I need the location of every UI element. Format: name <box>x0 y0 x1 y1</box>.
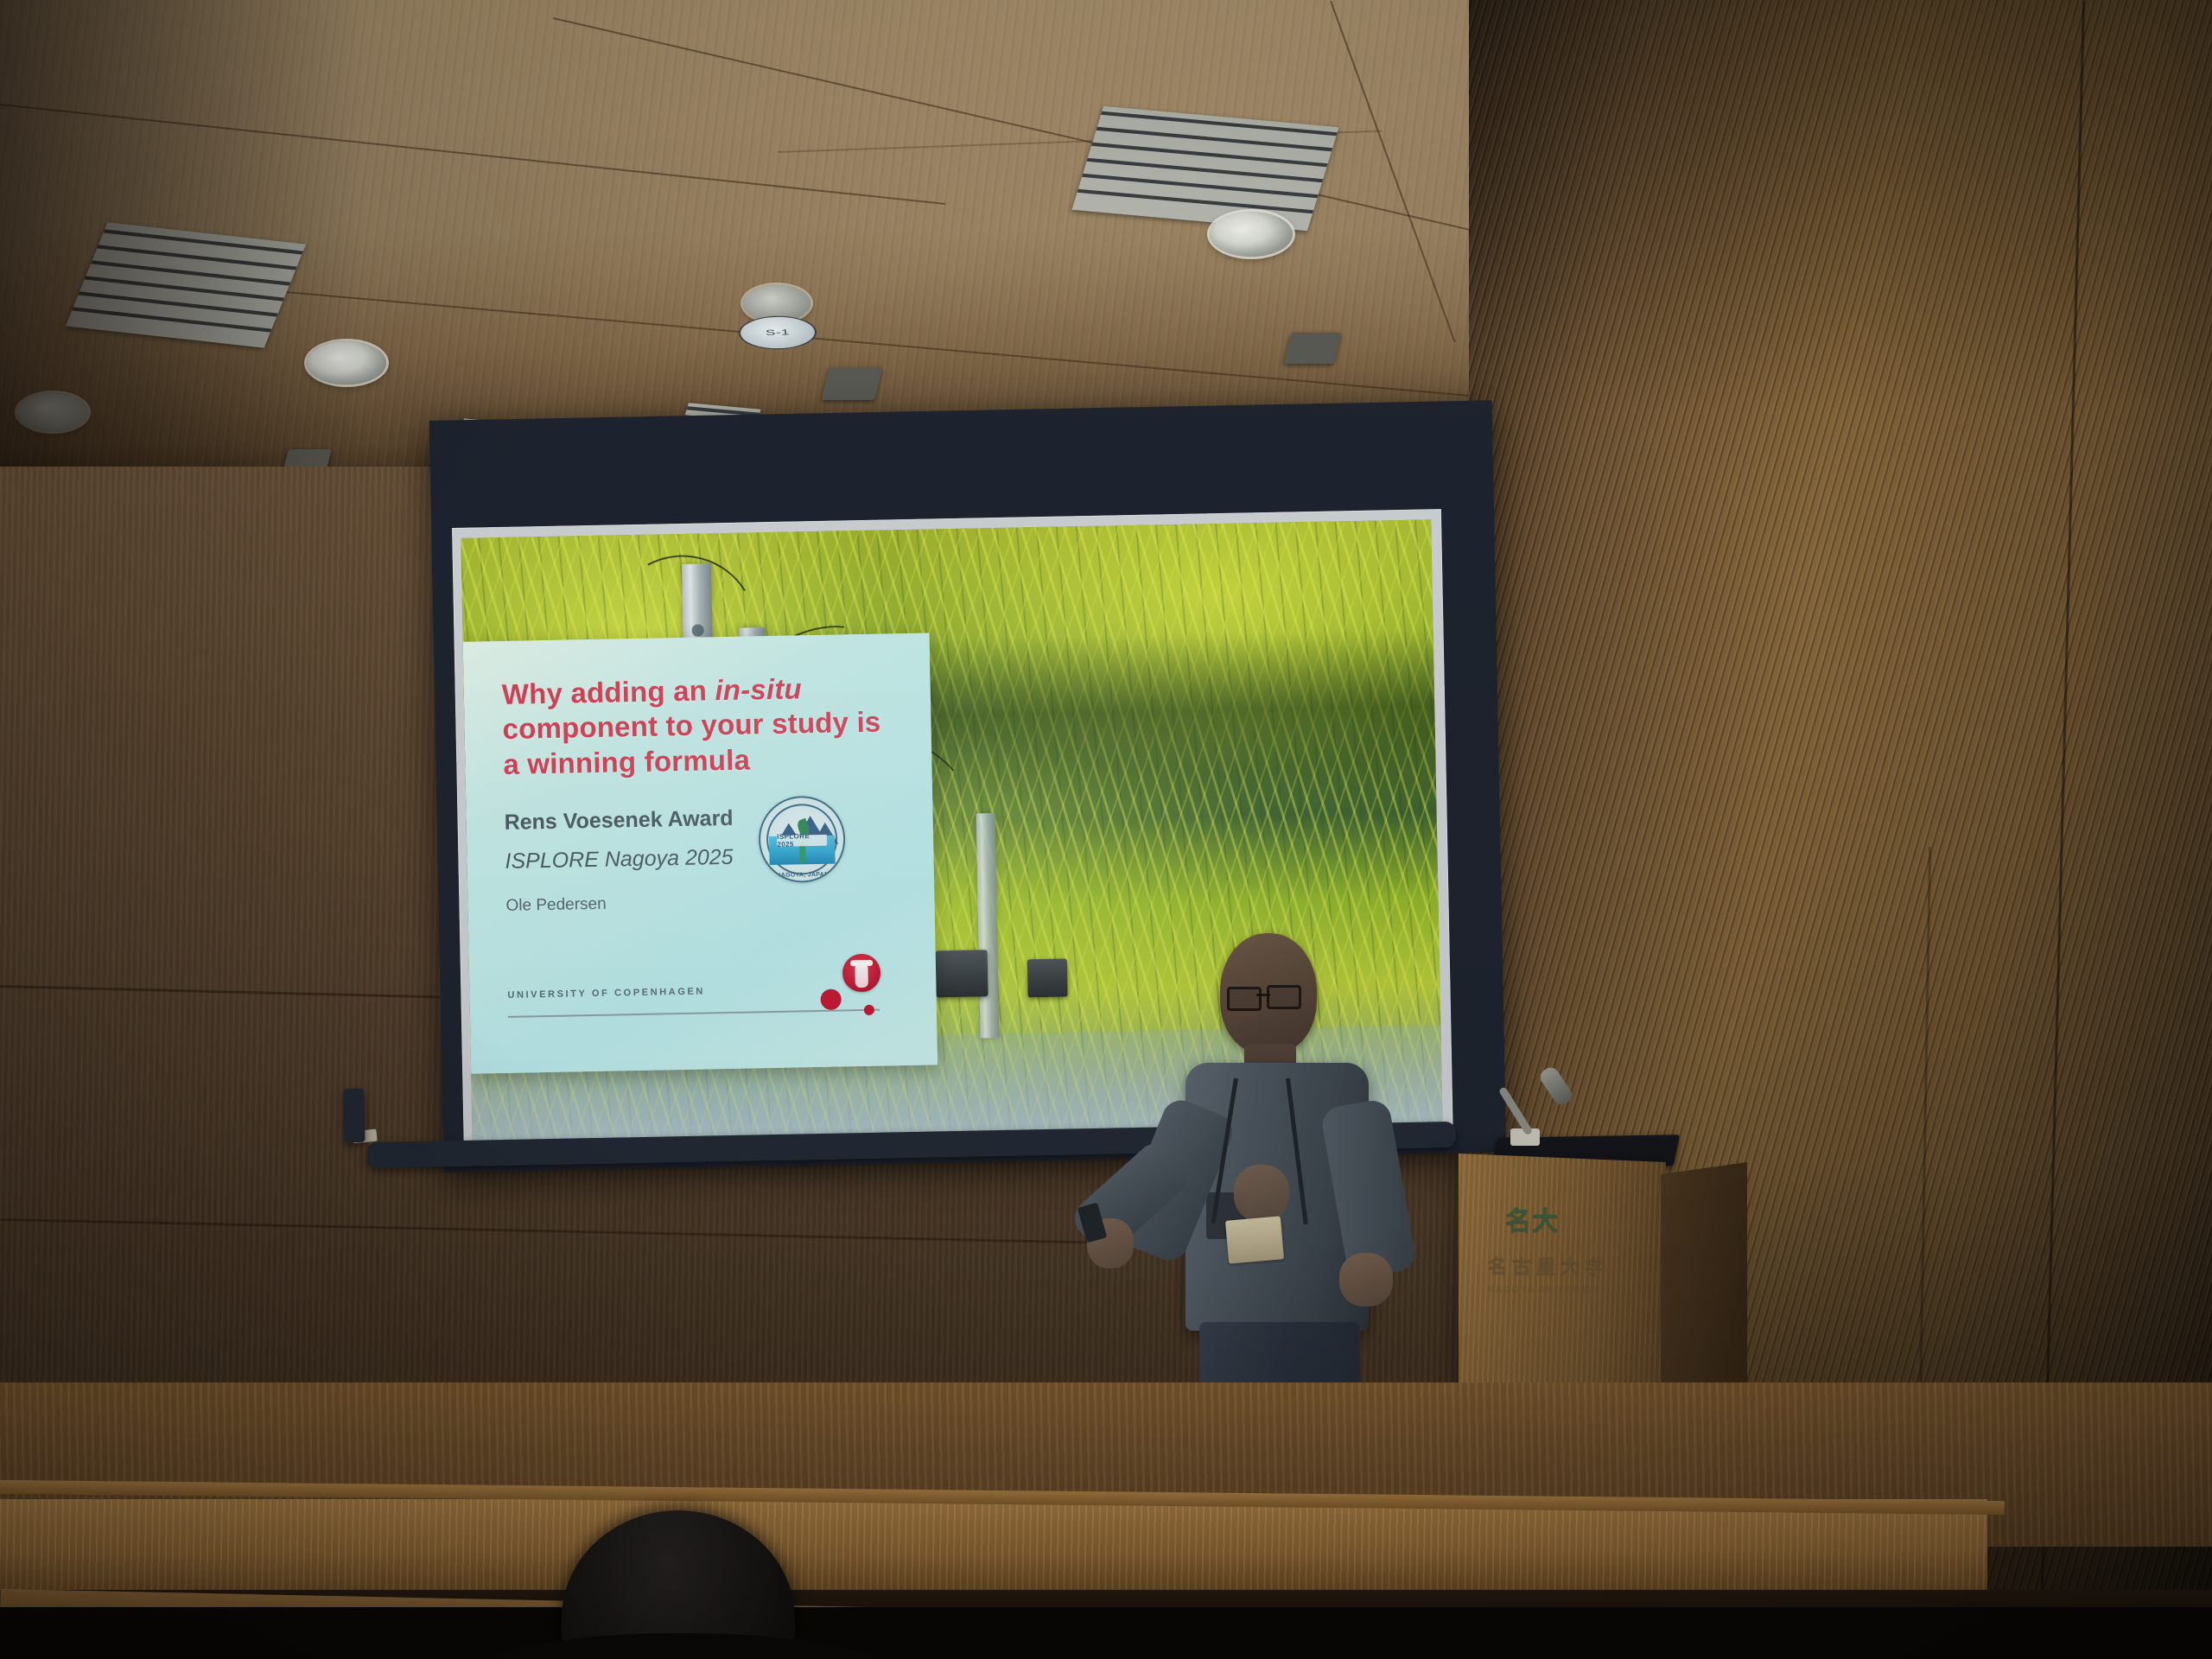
nagoya-university-english: NAGOYA UNIVERSITY <box>1488 1285 1607 1294</box>
university-name: UNIVERSITY OF COPENHAGEN <box>507 987 705 1001</box>
isplore-logo: ISPLORE 2025 NAGOYA, JAPAN <box>758 795 846 883</box>
field-sensor-box <box>936 950 988 997</box>
presenter-glasses-bridge <box>1256 994 1270 996</box>
nagoya-university-logo-mark: 名大 <box>1505 1199 1559 1237</box>
footer-accent-dot <box>864 1005 874 1015</box>
slide-title-line1-italic: in-situ <box>715 672 802 706</box>
slide-author-name: Ole Pedersen <box>505 895 607 916</box>
presenter-hand-gesturing <box>1234 1165 1289 1222</box>
ceiling-speaker <box>821 367 882 400</box>
ceiling-downlight <box>1210 212 1293 257</box>
ceiling-vent-center <box>1071 106 1338 231</box>
nagoya-university-kanji: 名古屋大学 <box>1488 1251 1609 1279</box>
ucph-seal-emblem <box>855 965 868 988</box>
foreground-shadow <box>0 1607 2212 1659</box>
slide-event-name: ISPLORE Nagoya 2025 <box>505 845 734 874</box>
isplore-location-text: NAGOYA, JAPAN <box>761 872 844 880</box>
presenter-glasses-lens-right <box>1267 985 1301 1009</box>
presenter-name-badge <box>1225 1216 1284 1263</box>
stage-front-face <box>0 1499 1987 1594</box>
field-sensor-box <box>1027 958 1068 997</box>
ucph-seal-icon <box>842 954 881 993</box>
ucph-seal-dot <box>820 988 841 1009</box>
slide-content-card: Why adding an in-situ component to your … <box>463 632 938 1073</box>
slide-award-name: Rens Voesenek Award <box>504 806 733 836</box>
stage-front-grain <box>0 1499 1987 1594</box>
screen-left-edge-strip <box>343 1089 365 1142</box>
slide-title: Why adding an in-situ component to your … <box>501 670 892 781</box>
footer-rule <box>508 1009 880 1018</box>
ceiling-speaker <box>1284 333 1342 364</box>
presenter-glasses-lens-left <box>1227 987 1262 1011</box>
slide-title-line1-plain: Why adding an <box>501 674 715 710</box>
isplore-badge-text: ISPLORE 2025 <box>777 835 827 847</box>
lecture-hall-photo: S-1 <box>0 0 2212 1659</box>
ceiling-shadow-left <box>0 0 363 484</box>
presenter-hand-right <box>1339 1253 1393 1306</box>
slide-title-line3: a winning formula <box>503 743 750 779</box>
slide-title-line2: component to your study is <box>502 706 881 745</box>
